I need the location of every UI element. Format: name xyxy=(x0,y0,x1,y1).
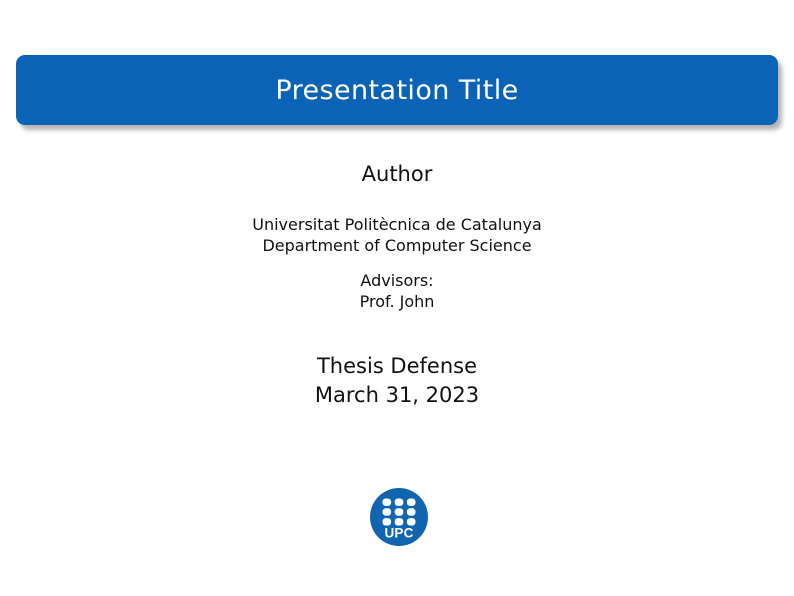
upc-dot-1-1 xyxy=(383,499,392,506)
advisors-heading: Advisors: xyxy=(0,270,794,291)
spacer-advisors-event xyxy=(0,312,794,352)
affiliation-block: Universitat Politècnica de Catalunya Dep… xyxy=(0,214,794,256)
upc-dot-1-3 xyxy=(407,499,416,506)
upc-logo-svg: UPC xyxy=(369,487,429,547)
upc-dot-3-1 xyxy=(383,518,392,525)
event-occasion: Thesis Defense xyxy=(0,352,794,381)
upc-wordmark: UPC xyxy=(384,526,413,541)
upc-logo: UPC xyxy=(369,487,429,547)
author-block: Author xyxy=(0,160,794,188)
presentation-title: Presentation Title xyxy=(275,77,518,104)
author-name: Author xyxy=(0,160,794,188)
spacer-affiliation-advisors xyxy=(0,256,794,270)
upc-dot-1-2 xyxy=(395,499,404,506)
upc-dot-2-2 xyxy=(395,508,404,515)
slide-body: Author Universitat Politècnica de Catalu… xyxy=(0,160,794,410)
event-block: Thesis Defense March 31, 2023 xyxy=(0,352,794,410)
advisor-name: Prof. John xyxy=(0,291,794,312)
upc-dot-2-3 xyxy=(407,508,416,515)
title-bar: Presentation Title xyxy=(16,55,778,125)
upc-dot-2-1 xyxy=(383,508,392,515)
affiliation-university: Universitat Politècnica de Catalunya xyxy=(0,214,794,235)
upc-dot-3-2 xyxy=(395,518,404,525)
affiliation-department: Department of Computer Science xyxy=(0,235,794,256)
upc-dot-3-3 xyxy=(407,518,416,525)
advisors-block: Advisors: Prof. John xyxy=(0,270,794,312)
title-slide: Presentation Title Author Universitat Po… xyxy=(0,0,794,596)
event-date: March 31, 2023 xyxy=(0,381,794,410)
title-bar-fill: Presentation Title xyxy=(16,55,778,125)
spacer-author-affiliation xyxy=(0,188,794,214)
upc-logo-dot-grid xyxy=(383,499,416,526)
